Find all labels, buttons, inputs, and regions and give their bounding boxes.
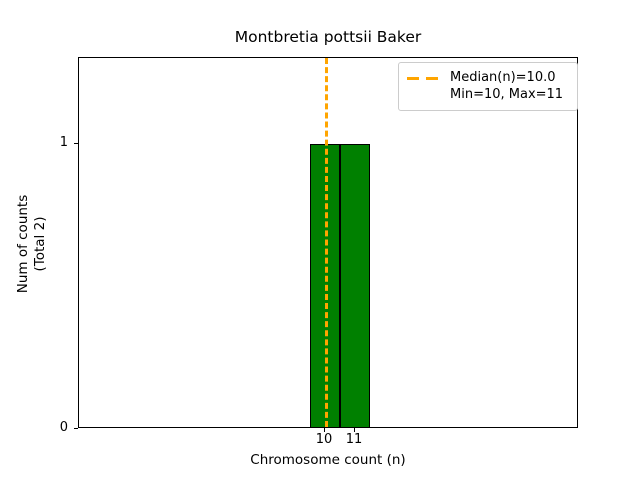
legend: Median(n)=10.0 Min=10, Max=11 [398, 62, 578, 111]
bar-11 [340, 144, 370, 428]
legend-label-median: Median(n)=10.0 [450, 69, 556, 86]
dashed-line-icon [407, 71, 441, 85]
chart-figure: Montbretia pottsii Baker 0 1 10 11 Chrom… [0, 0, 640, 480]
y-axis-label: Num of counts (Total 2) [15, 34, 49, 454]
y-axis-label-container: Num of counts (Total 2) [0, 0, 56, 480]
legend-label-minmax: Min=10, Max=11 [407, 86, 569, 103]
ytick-label-1: 1 [60, 136, 68, 149]
plot-area [78, 57, 578, 428]
xtick-label-11: 11 [339, 433, 369, 447]
legend-entry-median: Median(n)=10.0 [407, 69, 569, 86]
page-title: Montbretia pottsii Baker [78, 28, 578, 46]
xtick-label-10: 10 [309, 433, 339, 447]
ytick-label-0: 0 [60, 421, 68, 434]
ytick-mark-0 [74, 428, 78, 429]
x-axis-label: Chromosome count (n) [78, 452, 578, 468]
median-line [325, 58, 328, 427]
